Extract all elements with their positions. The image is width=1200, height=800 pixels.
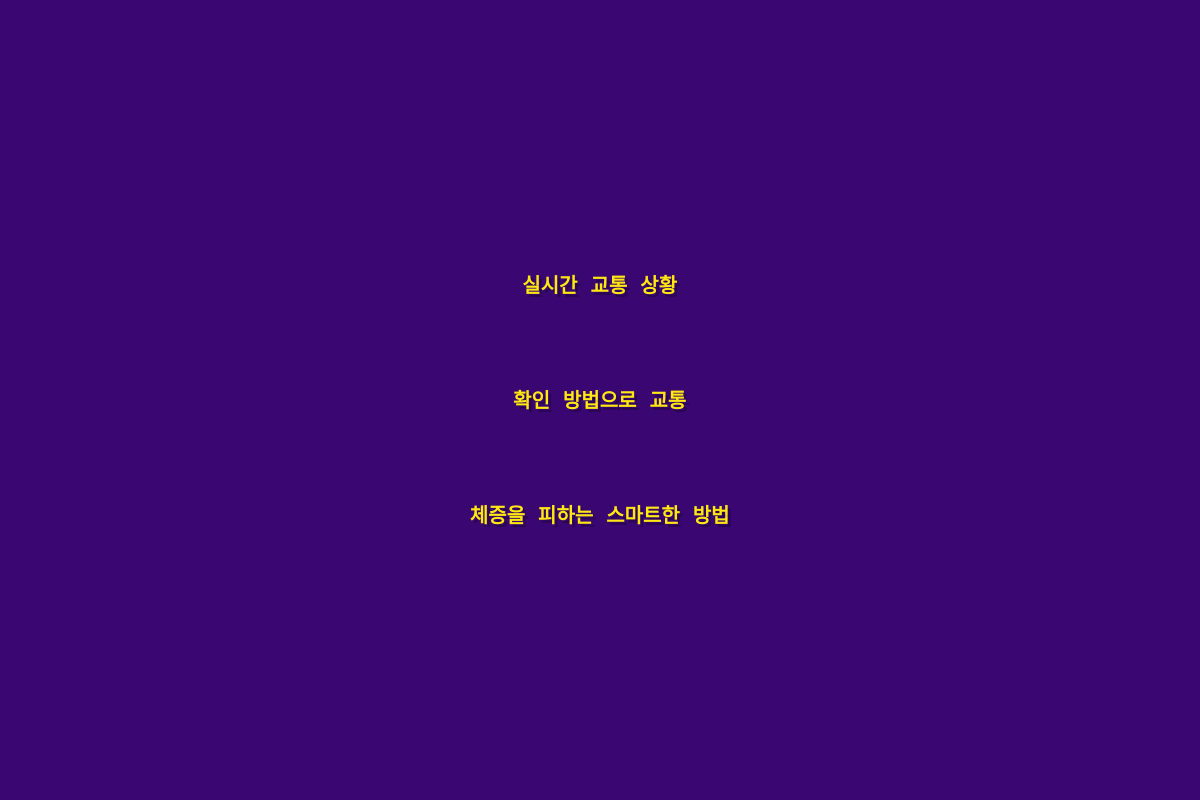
headline-line-1: 실시간 교통 상황 <box>0 228 1200 343</box>
headline-title: 실시간 교통 상황 확인 방법으로 교통 체증을 피하는 스마트한 방법 <box>0 228 1200 573</box>
banner-background: 실시간 교통 상황 확인 방법으로 교통 체증을 피하는 스마트한 방법 <box>0 0 1200 800</box>
headline-line-3: 체증을 피하는 스마트한 방법 <box>0 458 1200 573</box>
headline-line-2: 확인 방법으로 교통 <box>0 343 1200 458</box>
